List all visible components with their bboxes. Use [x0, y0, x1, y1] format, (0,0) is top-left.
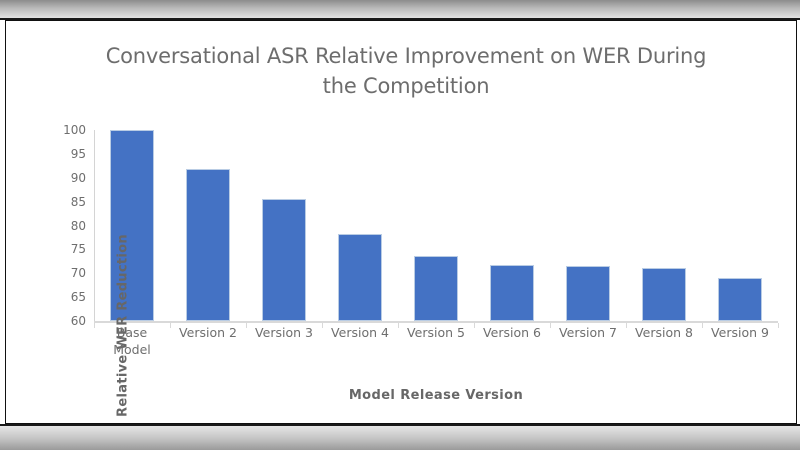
- bar[interactable]: [338, 234, 382, 321]
- x-axis-category-labels: Base ModelVersion 2Version 3Version 4Ver…: [94, 324, 778, 358]
- x-axis-category-label: Version 2: [170, 324, 246, 358]
- x-axis-category-label: Version 6: [474, 324, 550, 358]
- bar-slot: [170, 126, 246, 321]
- y-axis-tick-label: 85: [52, 195, 86, 209]
- bar[interactable]: [186, 169, 230, 321]
- y-axis-tick-label: 80: [52, 219, 86, 233]
- bar-slot: [94, 126, 170, 321]
- chart-title-line-2: the Competition: [66, 71, 746, 101]
- x-axis-category-label: Version 5: [398, 324, 474, 358]
- chart-title: Conversational ASR Relative Improvement …: [66, 41, 746, 101]
- screenshot-canvas: Conversational ASR Relative Improvement …: [0, 0, 800, 450]
- slide-content-area: Conversational ASR Relative Improvement …: [5, 20, 797, 424]
- bar-slot: [322, 126, 398, 321]
- plot-area: 1009590858075706560 Relative WER Reducti…: [94, 126, 778, 324]
- x-axis-category-label: Base Model: [94, 324, 170, 358]
- x-axis-category-label: Version 4: [322, 324, 398, 358]
- bar-slot: [550, 126, 626, 321]
- bar-slot: [246, 126, 322, 321]
- bar[interactable]: [642, 268, 686, 321]
- y-axis-tick-label: 60: [52, 314, 86, 328]
- top-letterbox-band: [0, 0, 800, 20]
- bar-series: [94, 126, 778, 321]
- bar-slot: [702, 126, 778, 321]
- y-axis-tick-label: 100: [52, 123, 86, 137]
- y-axis-tick-label: 75: [52, 242, 86, 256]
- x-axis-category-label: Version 8: [626, 324, 702, 358]
- x-axis-category-label: Version 9: [702, 324, 778, 358]
- bar[interactable]: [718, 278, 762, 321]
- x-axis-tick-mark: [778, 323, 779, 328]
- x-axis-line: [94, 321, 778, 323]
- bar[interactable]: [414, 256, 458, 321]
- x-axis-title: Model Release Version: [94, 388, 778, 403]
- bar[interactable]: [566, 266, 610, 321]
- chart-title-line-1: Conversational ASR Relative Improvement …: [66, 41, 746, 71]
- y-axis-tick-label: 90: [52, 171, 86, 185]
- y-axis-tick-label: 95: [52, 147, 86, 161]
- bar-slot: [626, 126, 702, 321]
- y-axis-tick-label: 65: [52, 290, 86, 304]
- bar-slot: [398, 126, 474, 321]
- bar[interactable]: [262, 199, 306, 321]
- x-axis-category-label: Version 7: [550, 324, 626, 358]
- bar-slot: [474, 126, 550, 321]
- bar[interactable]: [490, 265, 534, 321]
- x-axis-category-label: Version 3: [246, 324, 322, 358]
- y-axis-tick-label: 70: [52, 266, 86, 280]
